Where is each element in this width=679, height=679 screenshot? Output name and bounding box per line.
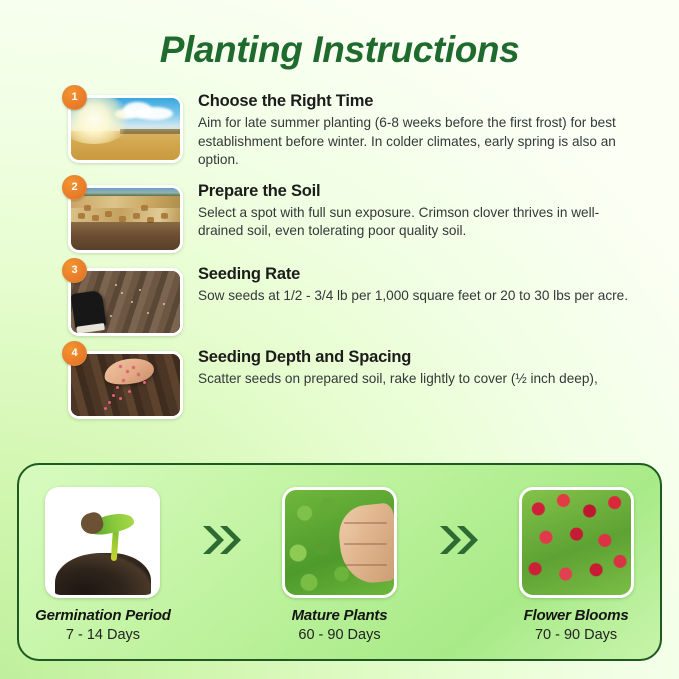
timeline-stage-duration: 7 - 14 Days	[19, 627, 187, 643]
timeline-stage-duration: 60 - 90 Days	[256, 627, 424, 643]
step-item: 3 Seeding Rate	[68, 261, 668, 336]
step-thumbnail-wrap: 3	[68, 268, 181, 336]
step-text: Sow seeds at 1/2 - 3/4 lb per 1,000 squa…	[198, 287, 630, 306]
sprouting-seedling-photo	[45, 487, 160, 598]
infographic-root: Planting Instructions 1	[0, 0, 679, 679]
step-number-badge: 1	[62, 85, 87, 110]
step-heading: Choose the Right Time	[198, 92, 668, 111]
step-heading: Seeding Depth and Spacing	[198, 348, 668, 367]
step-item: 4	[68, 344, 668, 419]
step-text: Select a spot with full sun exposure. Cr…	[198, 204, 630, 241]
timeline-stage: Mature Plants 60 - 90 Days	[256, 487, 424, 643]
clover-foliage-hand-photo	[282, 487, 397, 598]
step-thumbnail-wrap: 2	[68, 185, 181, 253]
step-thumbnail-wrap: 1	[68, 95, 181, 163]
steps-list: 1 Choose the Right Time Aim for late su	[68, 88, 668, 427]
harvested-field-hay-bales-photo	[68, 185, 183, 253]
growth-timeline-panel: Germination Period 7 - 14 Days	[17, 463, 662, 661]
timeline-stage-label: Flower Blooms	[492, 607, 660, 624]
page-title: Planting Instructions	[0, 29, 679, 71]
step-body: Seeding Rate Sow seeds at 1/2 - 3/4 lb p…	[181, 261, 668, 306]
timeline-stage: Germination Period 7 - 14 Days	[19, 487, 187, 643]
timeline-stage-label: Germination Period	[19, 607, 187, 624]
crimson-clover-blooms-photo	[519, 487, 634, 598]
timeline-stage-label: Mature Plants	[256, 607, 424, 624]
hand-scattering-seeds-photo	[68, 351, 183, 419]
double-chevron-right-icon	[187, 487, 256, 592]
step-text: Scatter seeds on prepared soil, rake lig…	[198, 370, 630, 389]
step-thumbnail-wrap: 4	[68, 351, 181, 419]
step-heading: Seeding Rate	[198, 265, 668, 284]
step-body: Prepare the Soil Select a spot with full…	[181, 178, 668, 241]
wheat-field-sunrise-photo	[68, 95, 183, 163]
double-chevron-right-icon	[423, 487, 492, 592]
step-number-badge: 3	[62, 258, 87, 283]
step-item: 1 Choose the Right Time Aim for late su	[68, 88, 668, 170]
step-text: Aim for late summer planting (6-8 weeks …	[198, 114, 630, 170]
timeline-stage-duration: 70 - 90 Days	[492, 627, 660, 643]
step-body: Choose the Right Time Aim for late summe…	[181, 88, 668, 170]
tilled-soil-boot-photo	[68, 268, 183, 336]
timeline-stage: Flower Blooms 70 - 90 Days	[492, 487, 660, 643]
step-number-badge: 2	[62, 175, 87, 200]
step-number-badge: 4	[62, 341, 87, 366]
step-item: 2 Prepar	[68, 178, 668, 253]
step-heading: Prepare the Soil	[198, 182, 668, 201]
step-body: Seeding Depth and Spacing Scatter seeds …	[181, 344, 668, 389]
